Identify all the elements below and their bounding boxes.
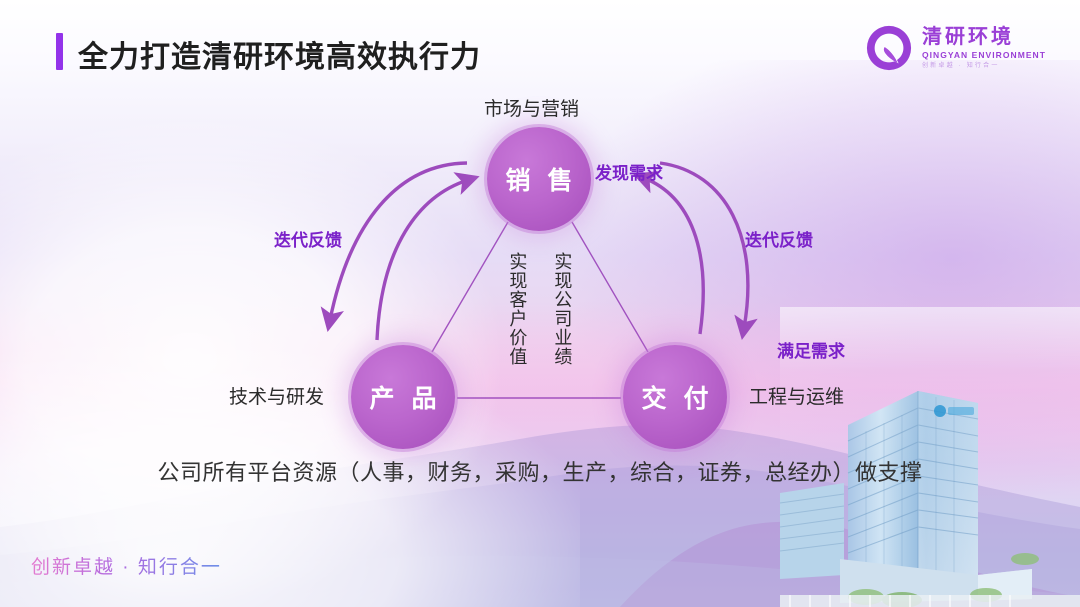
arrow-product-to-sales [377,180,468,340]
node-sales[interactable]: 销 售 [487,127,591,231]
label-iterate-feedback-left: 迭代反馈 [274,226,342,251]
label-satisfy-demand: 满足需求 [777,337,845,362]
caption-product: 技术与研发 [229,382,324,409]
slide: 全力打造清研环境高效执行力 清研环境 QINGYAN ENVIRONMENT 创… [0,0,1080,607]
label-discover-demand: 发现需求 [595,159,663,184]
caption-deliver: 工程与运维 [749,382,844,409]
vertical-text-customer-value: 实现客户价值 [505,252,528,366]
cycle-diagram-arrows [0,0,1080,607]
platform-resources-note: 公司所有平台资源（人事，财务，采购，生产，综合，证券，总经办）做支撑 [0,455,1080,487]
arrow-discover-demand [644,178,703,334]
footer-slogan: 创新卓越 · 知行合一 [31,552,222,579]
node-product[interactable]: 产 品 [351,345,455,449]
label-iterate-feedback-right: 迭代反馈 [745,226,813,251]
caption-sales: 市场与营销 [484,94,579,121]
connector-sales-product [432,222,508,352]
vertical-text-company-performance: 实现公司业绩 [550,252,573,366]
node-deliver[interactable]: 交 付 [623,345,727,449]
connector-sales-deliver [572,222,648,352]
